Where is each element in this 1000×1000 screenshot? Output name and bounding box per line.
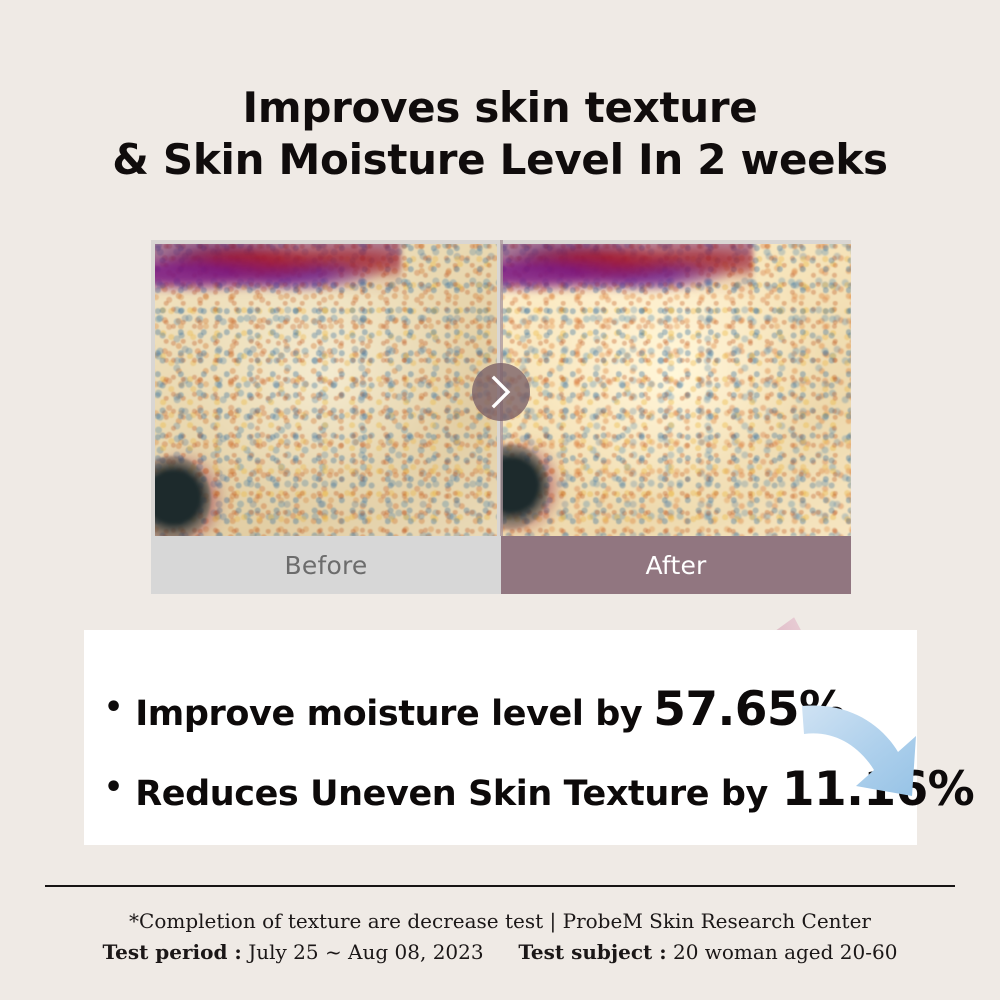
chevron-right-icon [472,363,530,421]
headline-line-2: & Skin Moisture Level In 2 weeks [0,134,1000,186]
claims-card: • Improve moisture level by 57.65% • Red… [84,630,917,845]
after-photo [501,240,851,536]
footnote-details: Test period : July 25 ~ Aug 08, 2023 Tes… [0,937,1000,968]
comparison-labels: Before After [151,536,851,594]
claim-bullet: • [104,693,123,723]
after-label: After [501,536,851,594]
arrow-down-icon [800,700,928,810]
claim-text: Reduces Uneven Skin Texture by [135,774,768,814]
footer-divider [45,885,955,887]
page-title: Improves skin texture & Skin Moisture Le… [0,82,1000,186]
footnote-source: *Completion of texture are decrease test… [0,906,1000,937]
claim-bullet: • [104,773,123,803]
footnote: *Completion of texture are decrease test… [0,906,1000,968]
skin-capillary-band-after [501,244,753,296]
test-period-value: July 25 ~ Aug 08, 2023 [248,940,483,964]
test-subject-label: Test subject : [518,940,666,964]
headline-line-1: Improves skin texture [0,82,1000,134]
before-label: Before [151,536,501,594]
test-period-label: Test period : [103,940,242,964]
after-photo-frame [501,244,851,536]
before-photo [151,240,501,536]
test-subject-value: 20 woman aged 20-60 [673,940,897,964]
skin-capillary-band-before [155,244,401,296]
claim-text: Improve moisture level by [135,694,642,734]
before-photo-frame [155,244,497,536]
